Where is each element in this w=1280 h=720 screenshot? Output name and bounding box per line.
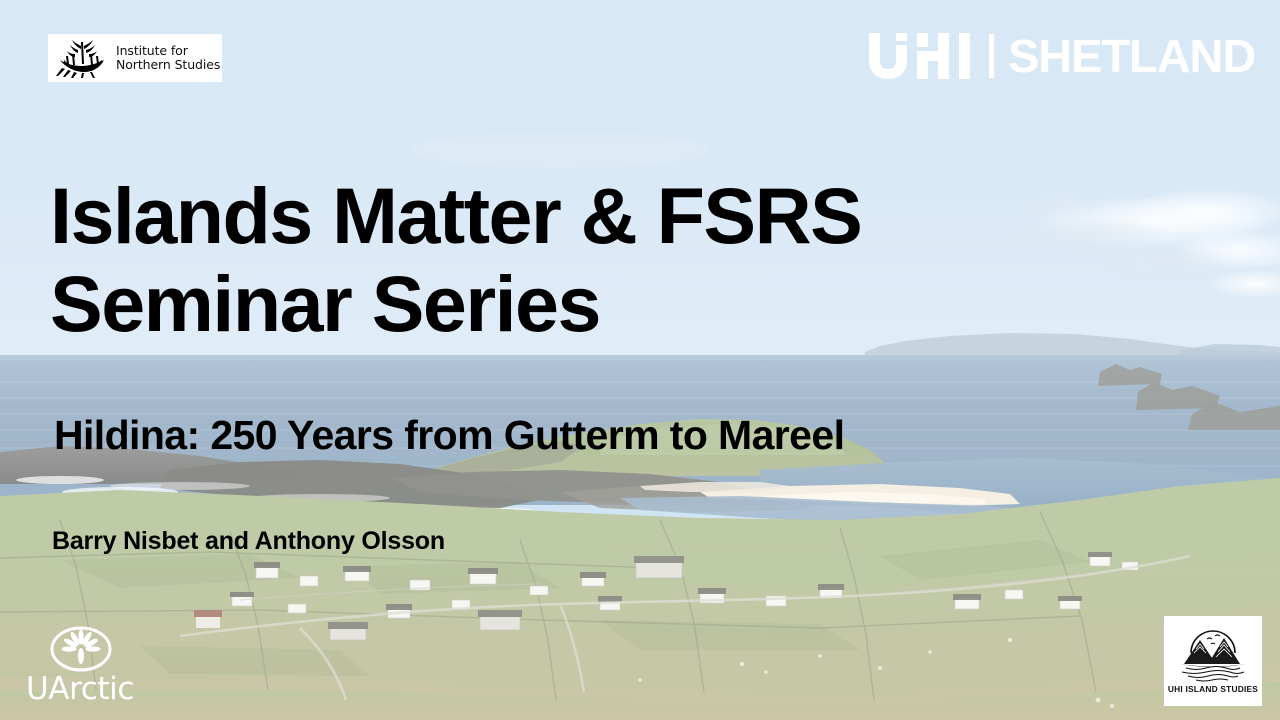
institute-northern-studies-label: Institute for Northern Studies [116,44,220,72]
uhi-monogram-icon [869,33,977,79]
uhi-shetland-logo: SHETLAND [869,30,1250,82]
uarctic-emblem-icon [48,626,114,672]
ins-line-2: Northern Studies [116,58,220,72]
ins-line-1: Institute for [116,44,220,58]
slide-presenters: Barry Nisbet and Anthony Olsson [52,526,852,556]
presentation-slide: Institute for Northern Studies SHETLAND … [0,0,1280,720]
viking-longship-icon [54,38,110,78]
uhi-island-studies-logo: UHI ISLAND STUDIES [1164,616,1262,706]
background-photograph [0,0,1280,720]
uarctic-wordmark: UArctic [26,673,152,706]
institute-northern-studies-logo: Institute for Northern Studies [48,34,222,82]
uhi-shetland-wordmark: SHETLAND [1008,33,1255,79]
uhi-divider [989,34,994,78]
island-mountains-icon [1174,620,1252,682]
slide-subtitle: Hildina: 250 Years from Gutterm to Maree… [54,411,1244,459]
island-studies-caption: UHI ISLAND STUDIES [1168,684,1258,694]
slide-title: Islands Matter & FSRS Seminar Series [50,172,1050,348]
uarctic-logo: UArctic [26,626,152,706]
